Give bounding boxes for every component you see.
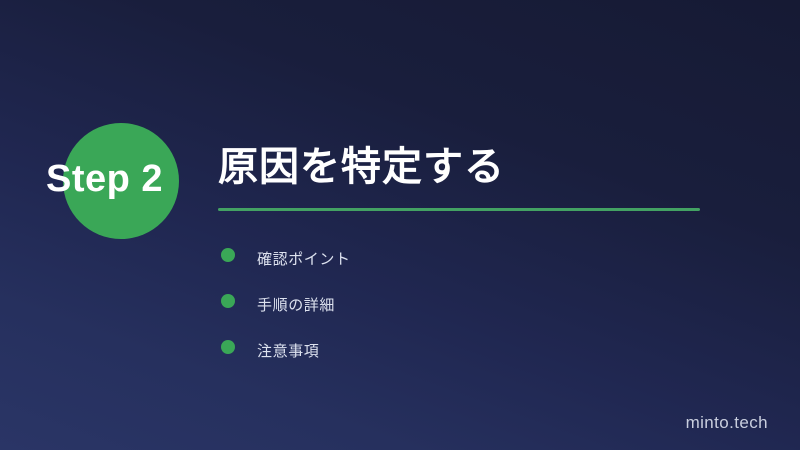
dot-icon [221, 340, 235, 354]
list-item-label: 確認ポイント [257, 250, 351, 270]
step-number-label: Step 2 [46, 155, 206, 203]
bullet-list: 確認ポイント 手順の詳細 注意事項 [221, 237, 701, 375]
slide-title: 原因を特定する [218, 140, 778, 194]
slide-canvas: Step 2 原因を特定する 確認ポイント 手順の詳細 注意事項 minto.t… [0, 0, 800, 450]
list-item-label: 手順の詳細 [257, 296, 335, 316]
dot-icon [221, 248, 235, 262]
list-item: 注意事項 [221, 329, 701, 375]
list-item: 確認ポイント [221, 237, 701, 283]
list-item: 手順の詳細 [221, 283, 701, 329]
list-item-label: 注意事項 [257, 342, 319, 362]
title-divider [218, 208, 700, 211]
dot-icon [221, 294, 235, 308]
footer-brand: minto.tech [686, 413, 768, 433]
title-block: 原因を特定する [218, 140, 778, 211]
